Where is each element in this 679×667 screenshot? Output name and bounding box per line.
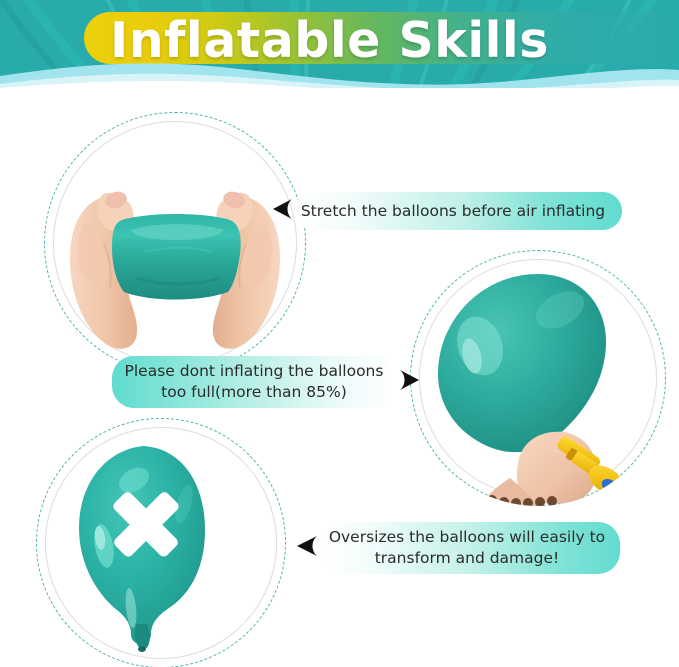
- callout-stretch-text: Stretch the balloons before air inflatin…: [294, 192, 622, 230]
- infographic-page: Inflatable Skills: [0, 0, 679, 667]
- photo-frame-stretch: [44, 112, 306, 374]
- callout-stretch: Stretch the balloons before air inflatin…: [272, 192, 622, 230]
- photo-frame-damaged: [36, 418, 286, 667]
- damaged-balloon-with-x-mark-photo: [36, 418, 286, 667]
- callout-oversize: Oversizes the balloons will easily to tr…: [296, 522, 620, 574]
- left-arrow-icon: [296, 534, 320, 563]
- callout-toofull-text: Please dont inflating the balloons too f…: [112, 356, 396, 408]
- callout-toofull: Please dont inflating the balloons too f…: [112, 356, 420, 408]
- right-arrow-icon: [396, 368, 420, 397]
- photo-frame-overinflate: [410, 250, 666, 506]
- callout-oversize-text: Oversizes the balloons will easily to tr…: [320, 522, 620, 574]
- hands-stretching-balloon-photo: [44, 112, 306, 374]
- header-banner: Inflatable Skills: [0, 0, 679, 88]
- over-inflated-balloon-with-pump-photo: [410, 250, 666, 506]
- header-wave-divider: [0, 54, 679, 88]
- left-arrow-icon: [272, 197, 294, 226]
